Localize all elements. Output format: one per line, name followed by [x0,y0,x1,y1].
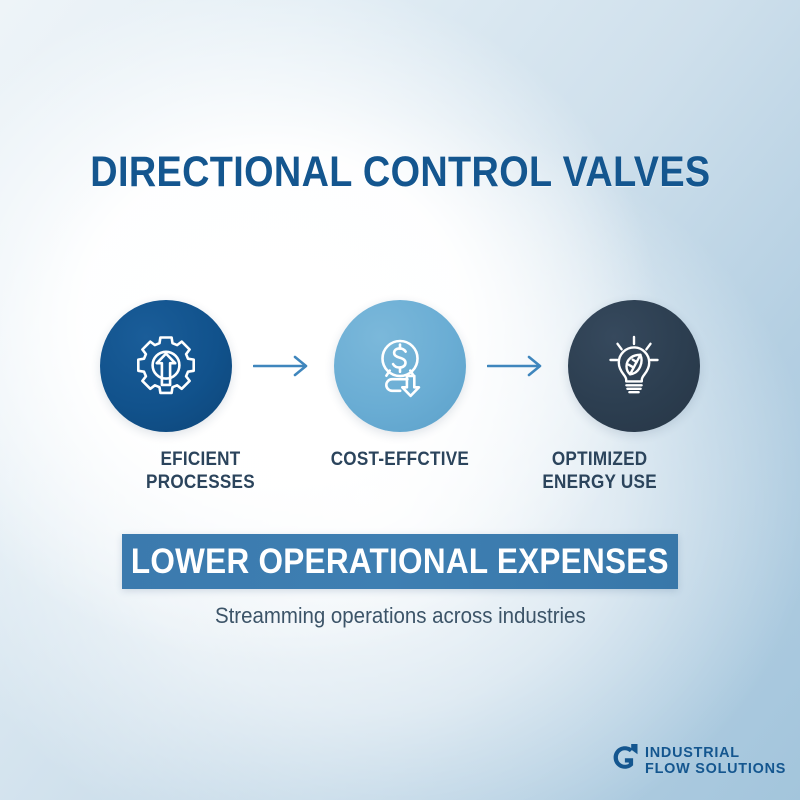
brand-line-2: FLOW SOLUTIONS [645,761,786,777]
step-1-label: EFICIENT PROCESSES [146,448,255,494]
ifs-monogram-icon [612,744,638,777]
process-flow-row [100,300,700,432]
step-1-circle [100,300,232,432]
process-step-2 [334,300,466,432]
dollar-arrow-down-icon [363,329,437,403]
brand-logo-text: INDUSTRIAL FLOW SOLUTIONS [645,745,792,777]
page-title: DIRECTIONAL CONTROL VALVES [90,147,710,197]
gear-arrow-up-icon [129,329,203,403]
result-banner-label: LOWER OPERATIONAL EXPENSES [131,543,669,581]
process-step-1 [100,300,232,432]
brand-line-1: INDUSTRIAL [645,745,786,761]
caption-cell-2: COST-EFFCTIVE [300,448,500,494]
step-2-label: COST-EFFCTIVE [331,448,469,471]
step-2-circle [334,300,466,432]
subtitle: Streamming operations across industries [215,602,586,630]
step-3-label: OPTIMIZED ENERGY USE [543,448,658,494]
arrow-right-icon [253,355,313,377]
caption-cell-3: OPTIMIZED ENERGY USE [500,448,700,494]
step-3-circle [568,300,700,432]
process-captions-row: EFICIENT PROCESSES COST-EFFCTIVE OPTIMIZ… [100,448,700,494]
infographic-poster: DIRECTIONAL CONTROL VALVES [0,0,800,800]
caption-cell-1: EFICIENT PROCESSES [100,448,300,494]
lightbulb-leaf-icon [597,329,671,403]
flow-arrow-1 [232,351,334,381]
title-container: DIRECTIONAL CONTROL VALVES [0,147,800,197]
subtitle-container: Streamming operations across industries [0,602,800,630]
flow-arrow-2 [466,351,568,381]
result-banner: LOWER OPERATIONAL EXPENSES [122,534,678,589]
process-step-3 [568,300,700,432]
brand-logo: INDUSTRIAL FLOW SOLUTIONS [612,744,792,777]
arrow-right-icon [487,355,547,377]
